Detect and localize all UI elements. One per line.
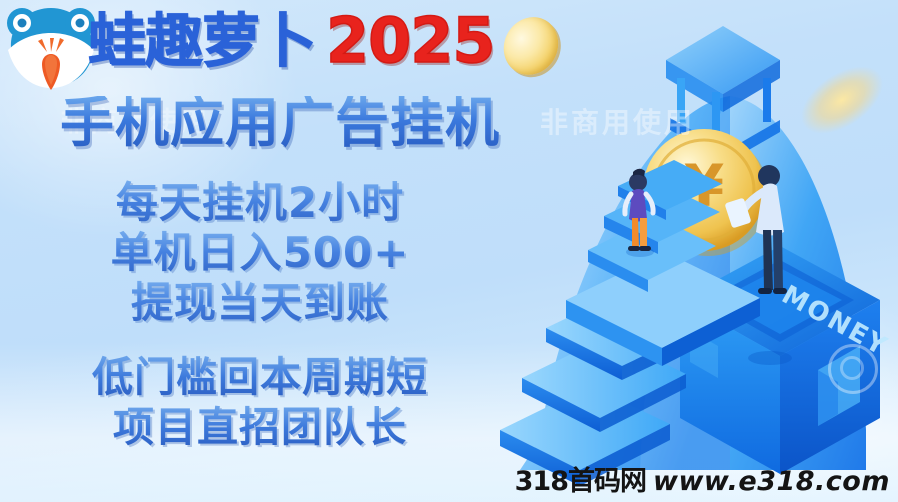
brand-title-row: 蛙趣萝卜 2025 bbox=[88, 8, 559, 74]
site-watermark: 318首码网www.e318.com bbox=[515, 459, 890, 498]
selling-point-2: 单机日入500+ bbox=[40, 228, 480, 278]
coin-icon bbox=[498, 10, 563, 82]
year-badge: 2025 bbox=[326, 10, 495, 72]
money-scene-illustration: MONEY ¥ bbox=[480, 0, 898, 502]
promo-poster: MONEY ¥ bbox=[0, 0, 898, 502]
selling-point-1: 每天挂机2小时 bbox=[40, 178, 480, 228]
brand-name: 蛙趣萝卜 bbox=[88, 12, 316, 70]
selling-points-list: 每天挂机2小时 单机日入500+ 提现当天到账 bbox=[40, 178, 480, 328]
selling-point-3: 提现当天到账 bbox=[40, 278, 480, 328]
site-url: www.e318.com bbox=[653, 466, 890, 497]
frog-carrot-logo bbox=[2, 2, 100, 94]
site-name: 318首码网 bbox=[515, 466, 646, 497]
bottom-points-list: 低门槛回本周期短 项目直招团队长 bbox=[40, 352, 480, 452]
headline: 手机应用广告挂机 bbox=[30, 96, 530, 150]
bottom-point-1: 低门槛回本周期短 bbox=[40, 352, 480, 402]
bottom-point-2: 项目直招团队长 bbox=[40, 402, 480, 452]
